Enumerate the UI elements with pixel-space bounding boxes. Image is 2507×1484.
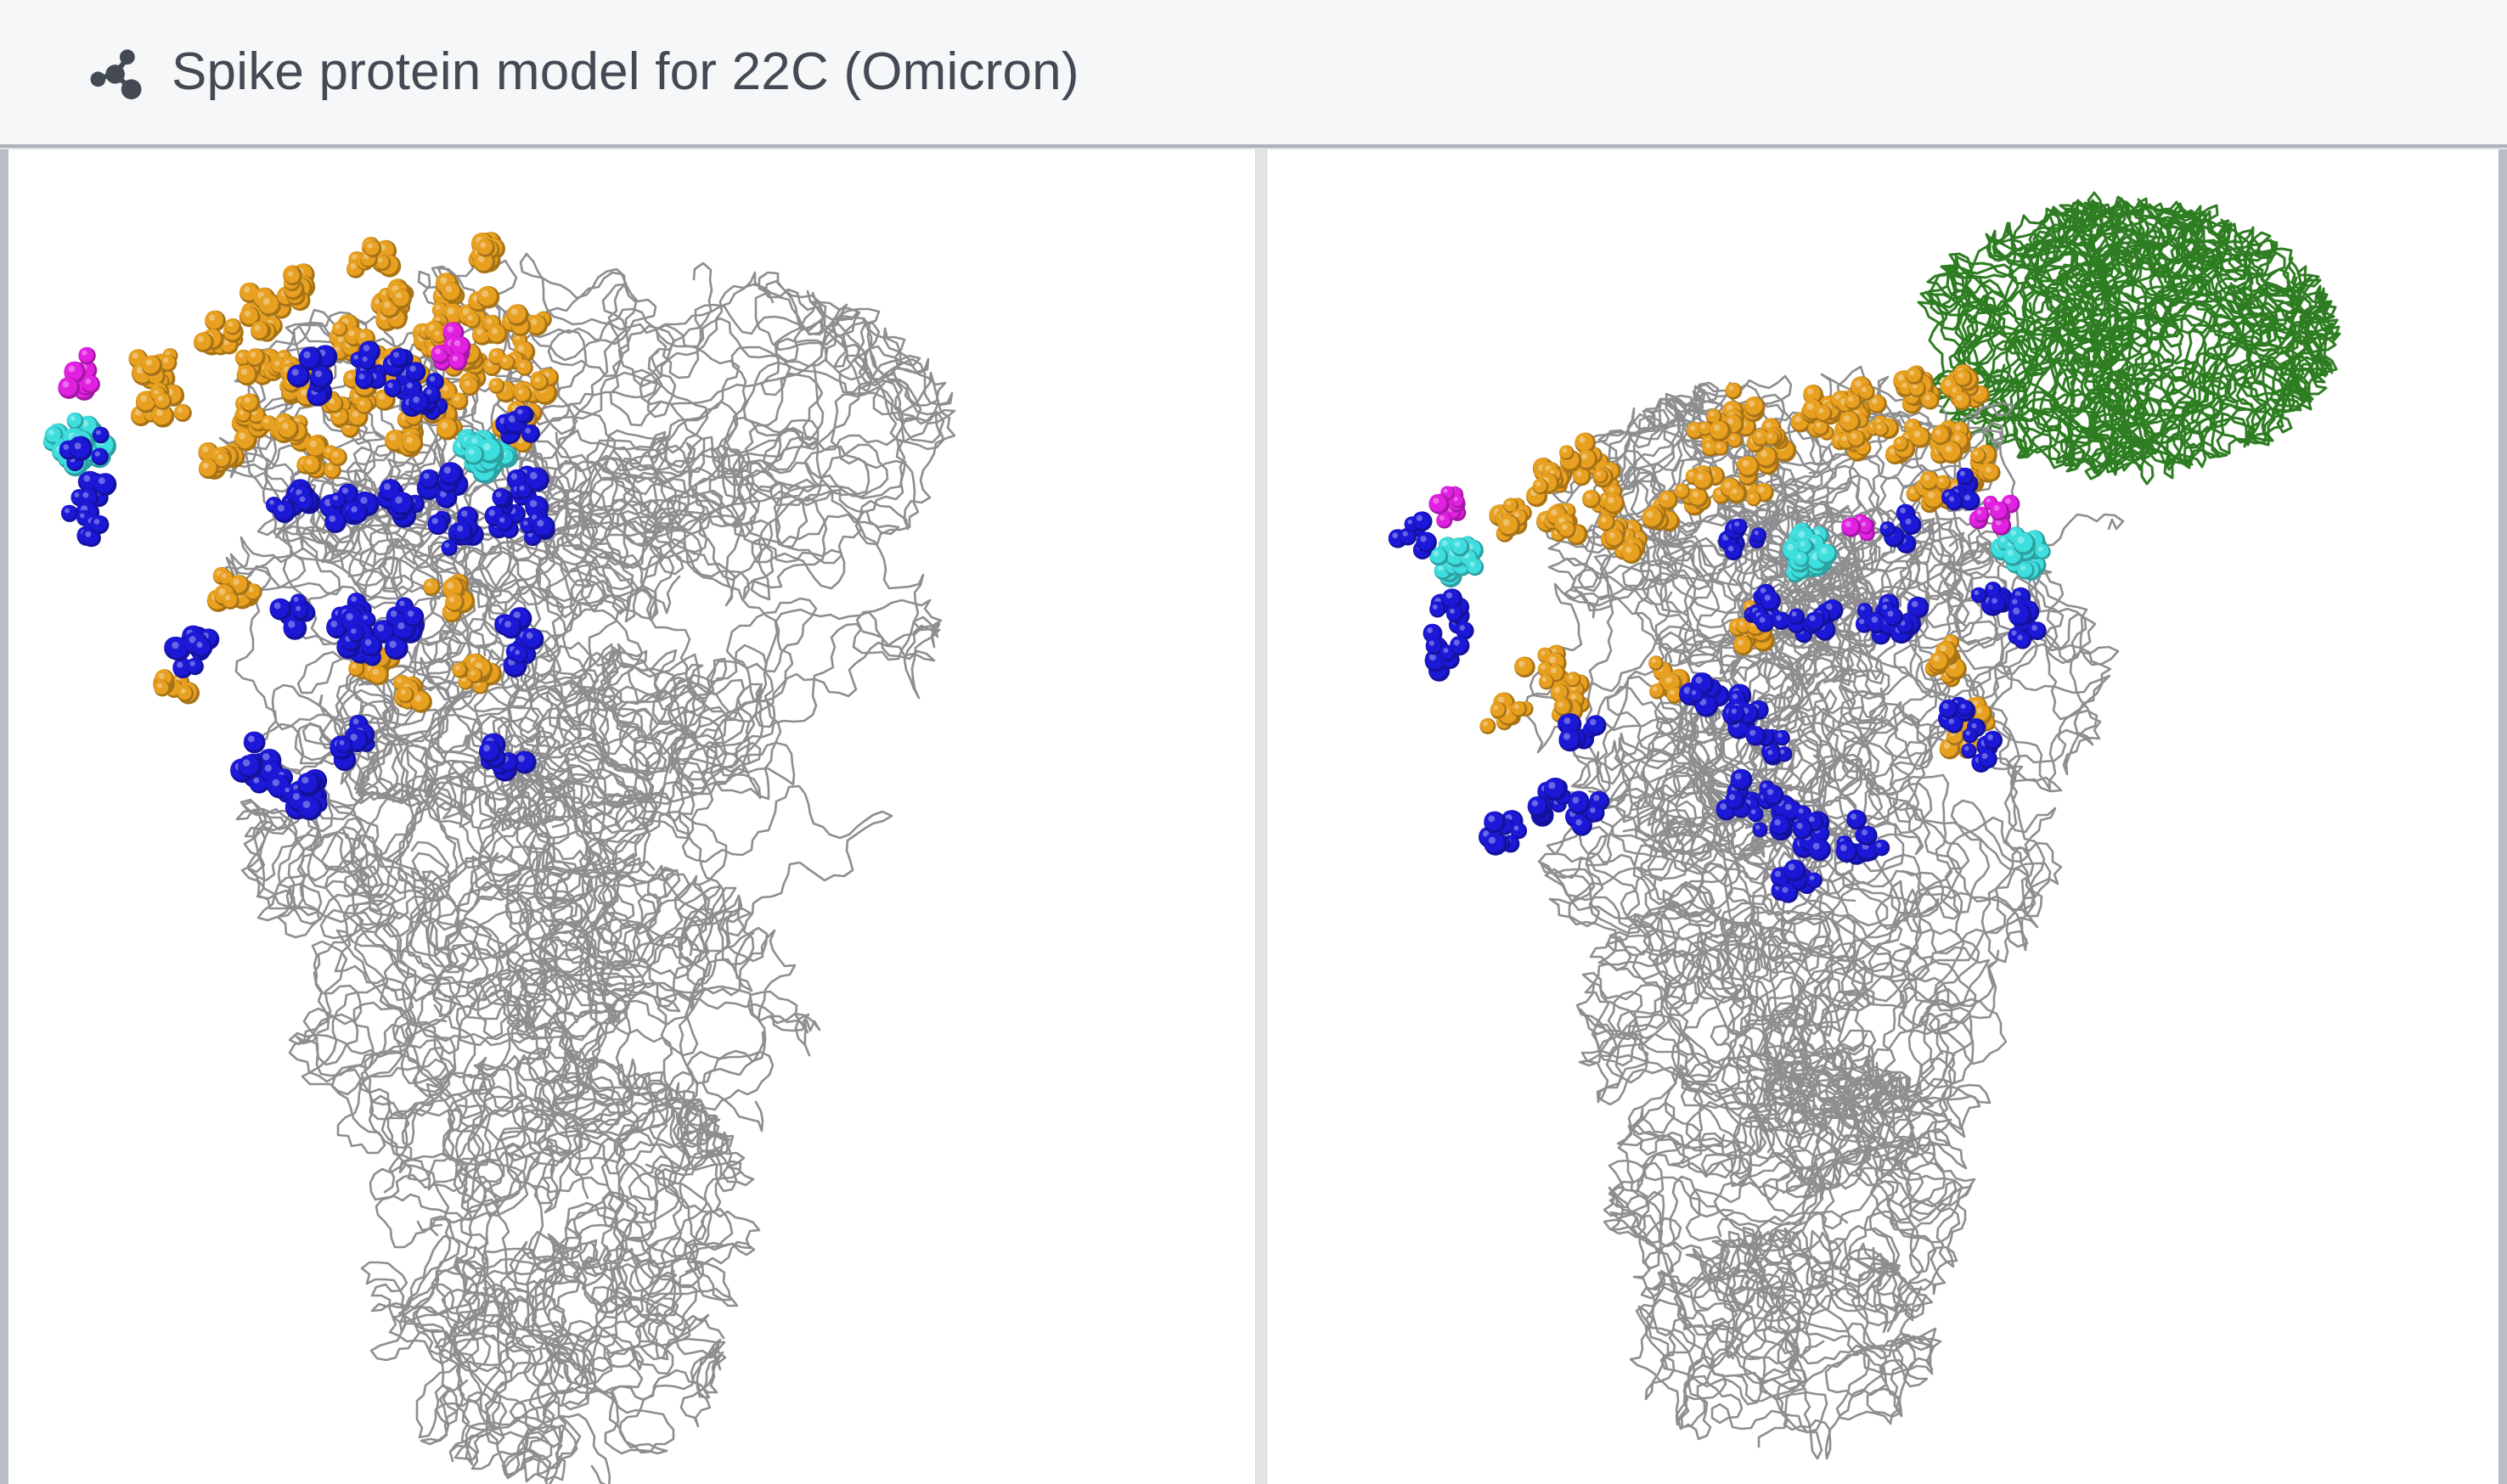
left-structure-pane[interactable] [8,149,1255,1484]
viewer-body [0,149,2507,1484]
right-structure-canvas[interactable] [1267,149,2499,1484]
left-structure-canvas[interactable] [8,149,1255,1484]
molecular-viewer-window: Spike protein model for 22C (Omicron) [0,0,2507,1484]
molecule-icon [82,37,153,108]
right-structure-pane[interactable] [1267,149,2499,1484]
page-title: Spike protein model for 22C (Omicron) [172,46,1079,98]
panel-header: Spike protein model for 22C (Omicron) [0,0,2507,149]
pane-divider [1255,149,1267,1484]
